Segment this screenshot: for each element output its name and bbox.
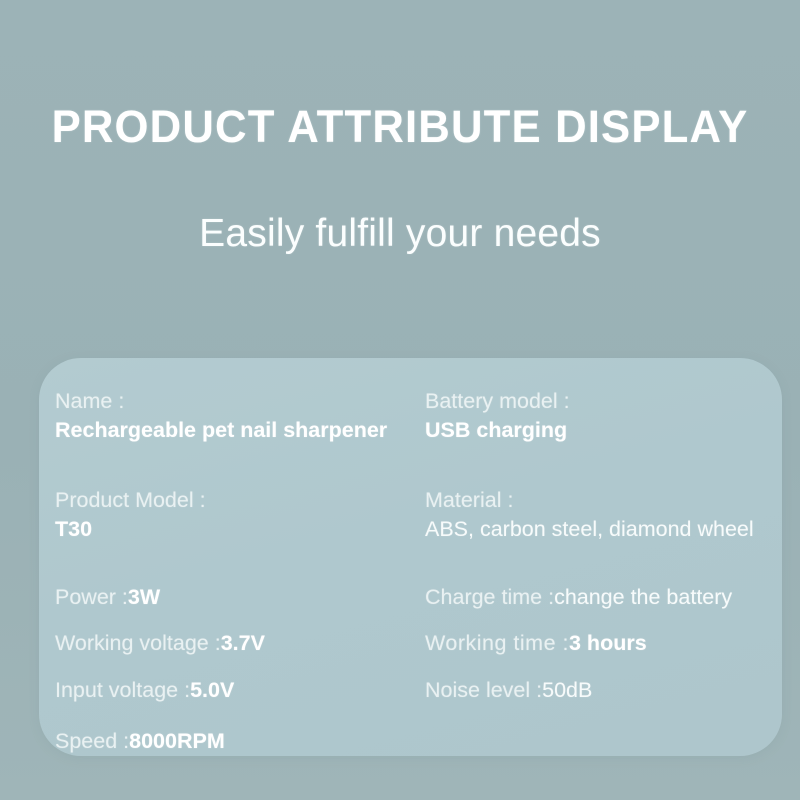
spec-value-working-time: 3 hours [569,631,647,655]
spec-label-battery-model: Battery model : [425,387,782,416]
spec-value-battery-model: USB charging [425,416,782,445]
spec-value-name: Rechargeable pet nail sharpener [55,416,417,445]
spec-label-material: Material : [425,486,782,515]
spec-label-charge-time: Charge time : [425,585,554,609]
spec-label-working-voltage: Working voltage : [55,631,221,655]
spec-row-noise-level: Noise level :50dB [425,676,782,705]
spec-label-name: Name : [55,387,417,416]
spec-value-product-model: T30 [55,515,417,544]
spec-row-working-voltage: Working voltage :3.7V [55,629,417,658]
spec-row-input-voltage: Input voltage :5.0V [55,676,417,705]
spec-label-power: Power : [55,585,128,609]
spec-value-noise-level: 50dB [542,678,592,702]
spec-label-input-voltage: Input voltage : [55,678,190,702]
spec-column-right: Battery model : USB charging Material : … [417,358,782,756]
product-attribute-page: PRODUCT ATTRIBUTE DISPLAY Easily fulfill… [0,0,800,800]
spec-value-speed: 8000RPM [129,729,225,753]
spec-value-input-voltage: 5.0V [190,678,234,702]
page-subtitle: Easily fulfill your needs [0,214,800,253]
spec-row-speed: Speed :8000RPM [55,727,417,756]
spec-label-working-time: Working time : [425,631,569,655]
spec-value-charge-time: change the battery [554,585,732,609]
spec-row-name: Name : Rechargeable pet nail sharpener [55,387,417,445]
spec-value-working-voltage: 3.7V [221,631,265,655]
spec-label-noise-level: Noise level : [425,678,542,702]
spec-label-product-model: Product Model : [55,486,417,515]
spec-column-left: Name : Rechargeable pet nail sharpener P… [39,358,417,756]
spec-label-speed: Speed : [55,729,129,753]
spec-row-battery-model: Battery model : USB charging [425,387,782,445]
spec-row-charge-time: Charge time :change the battery [425,583,782,612]
spec-columns: Name : Rechargeable pet nail sharpener P… [39,358,782,756]
spec-card: Name : Rechargeable pet nail sharpener P… [39,358,782,756]
spec-value-material: ABS, carbon steel, diamond wheel [425,515,782,544]
spec-row-material: Material : ABS, carbon steel, diamond wh… [425,486,782,544]
spec-row-product-model: Product Model : T30 [55,486,417,544]
page-title: PRODUCT ATTRIBUTE DISPLAY [12,104,788,149]
spec-row-power: Power :3W [55,583,417,612]
spec-value-power: 3W [128,585,160,609]
spec-row-working-time: Working time :3 hours [425,629,782,658]
